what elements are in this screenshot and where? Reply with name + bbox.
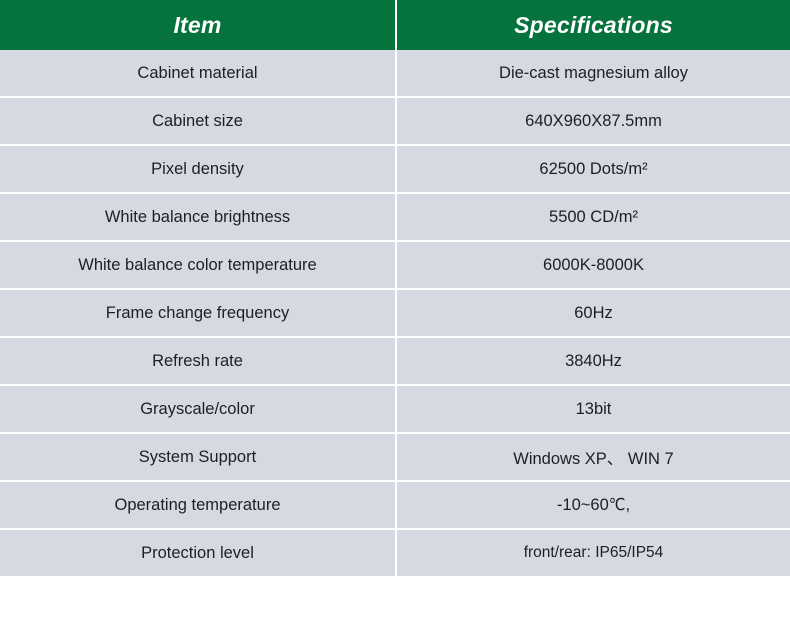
cell-item-white-balance-brightness: White balance brightness [0, 192, 397, 240]
table-header: Item Specifications [0, 0, 790, 50]
table-row: Cabinet size 640X960X87.5mm [0, 96, 790, 144]
table-row: Grayscale/color 13bit [0, 384, 790, 432]
cell-spec-grayscale-color: 13bit [397, 384, 790, 432]
table-row: Frame change frequency 60Hz [0, 288, 790, 336]
cell-item-grayscale-color: Grayscale/color [0, 384, 397, 432]
cell-spec-frame-change-frequency: 60Hz [397, 288, 790, 336]
cell-item-operating-temperature: Operating temperature [0, 480, 397, 528]
table-header-row: Item Specifications [0, 0, 790, 50]
specifications-table-container: Item Specifications Cabinet material Die… [0, 0, 790, 621]
table-row: Operating temperature -10~60℃, [0, 480, 790, 528]
cell-item-cabinet-size: Cabinet size [0, 96, 397, 144]
cell-item-frame-change-frequency: Frame change frequency [0, 288, 397, 336]
table-row: Protection level front/rear: IP65/IP54 [0, 528, 790, 576]
table-row: Refresh rate 3840Hz [0, 336, 790, 384]
cell-item-protection-level: Protection level [0, 528, 397, 576]
cell-item-refresh-rate: Refresh rate [0, 336, 397, 384]
cell-item-system-support: System Support [0, 432, 397, 480]
cell-spec-white-balance-brightness: 5500 CD/m² [397, 192, 790, 240]
cell-spec-refresh-rate: 3840Hz [397, 336, 790, 384]
below-table-whitespace [0, 576, 790, 621]
cell-spec-pixel-density: 62500 Dots/m² [397, 144, 790, 192]
table-row: Pixel density 62500 Dots/m² [0, 144, 790, 192]
cell-spec-white-balance-color-temperature: 6000K-8000K [397, 240, 790, 288]
table-body: Cabinet material Die-cast magnesium allo… [0, 50, 790, 576]
cell-spec-protection-level: front/rear: IP65/IP54 [397, 528, 790, 576]
specifications-table: Item Specifications Cabinet material Die… [0, 0, 790, 576]
table-row: Cabinet material Die-cast magnesium allo… [0, 50, 790, 96]
table-row: System Support Windows XP、 WIN 7 [0, 432, 790, 480]
column-header-specifications: Specifications [397, 0, 790, 50]
cell-item-cabinet-material: Cabinet material [0, 50, 397, 96]
table-row: White balance color temperature 6000K-80… [0, 240, 790, 288]
cell-spec-cabinet-material: Die-cast magnesium alloy [397, 50, 790, 96]
cell-spec-system-support: Windows XP、 WIN 7 [397, 432, 790, 480]
cell-spec-cabinet-size: 640X960X87.5mm [397, 96, 790, 144]
cell-item-pixel-density: Pixel density [0, 144, 397, 192]
column-header-item: Item [0, 0, 397, 50]
table-row: White balance brightness 5500 CD/m² [0, 192, 790, 240]
cell-spec-operating-temperature: -10~60℃, [397, 480, 790, 528]
cell-item-white-balance-color-temperature: White balance color temperature [0, 240, 397, 288]
